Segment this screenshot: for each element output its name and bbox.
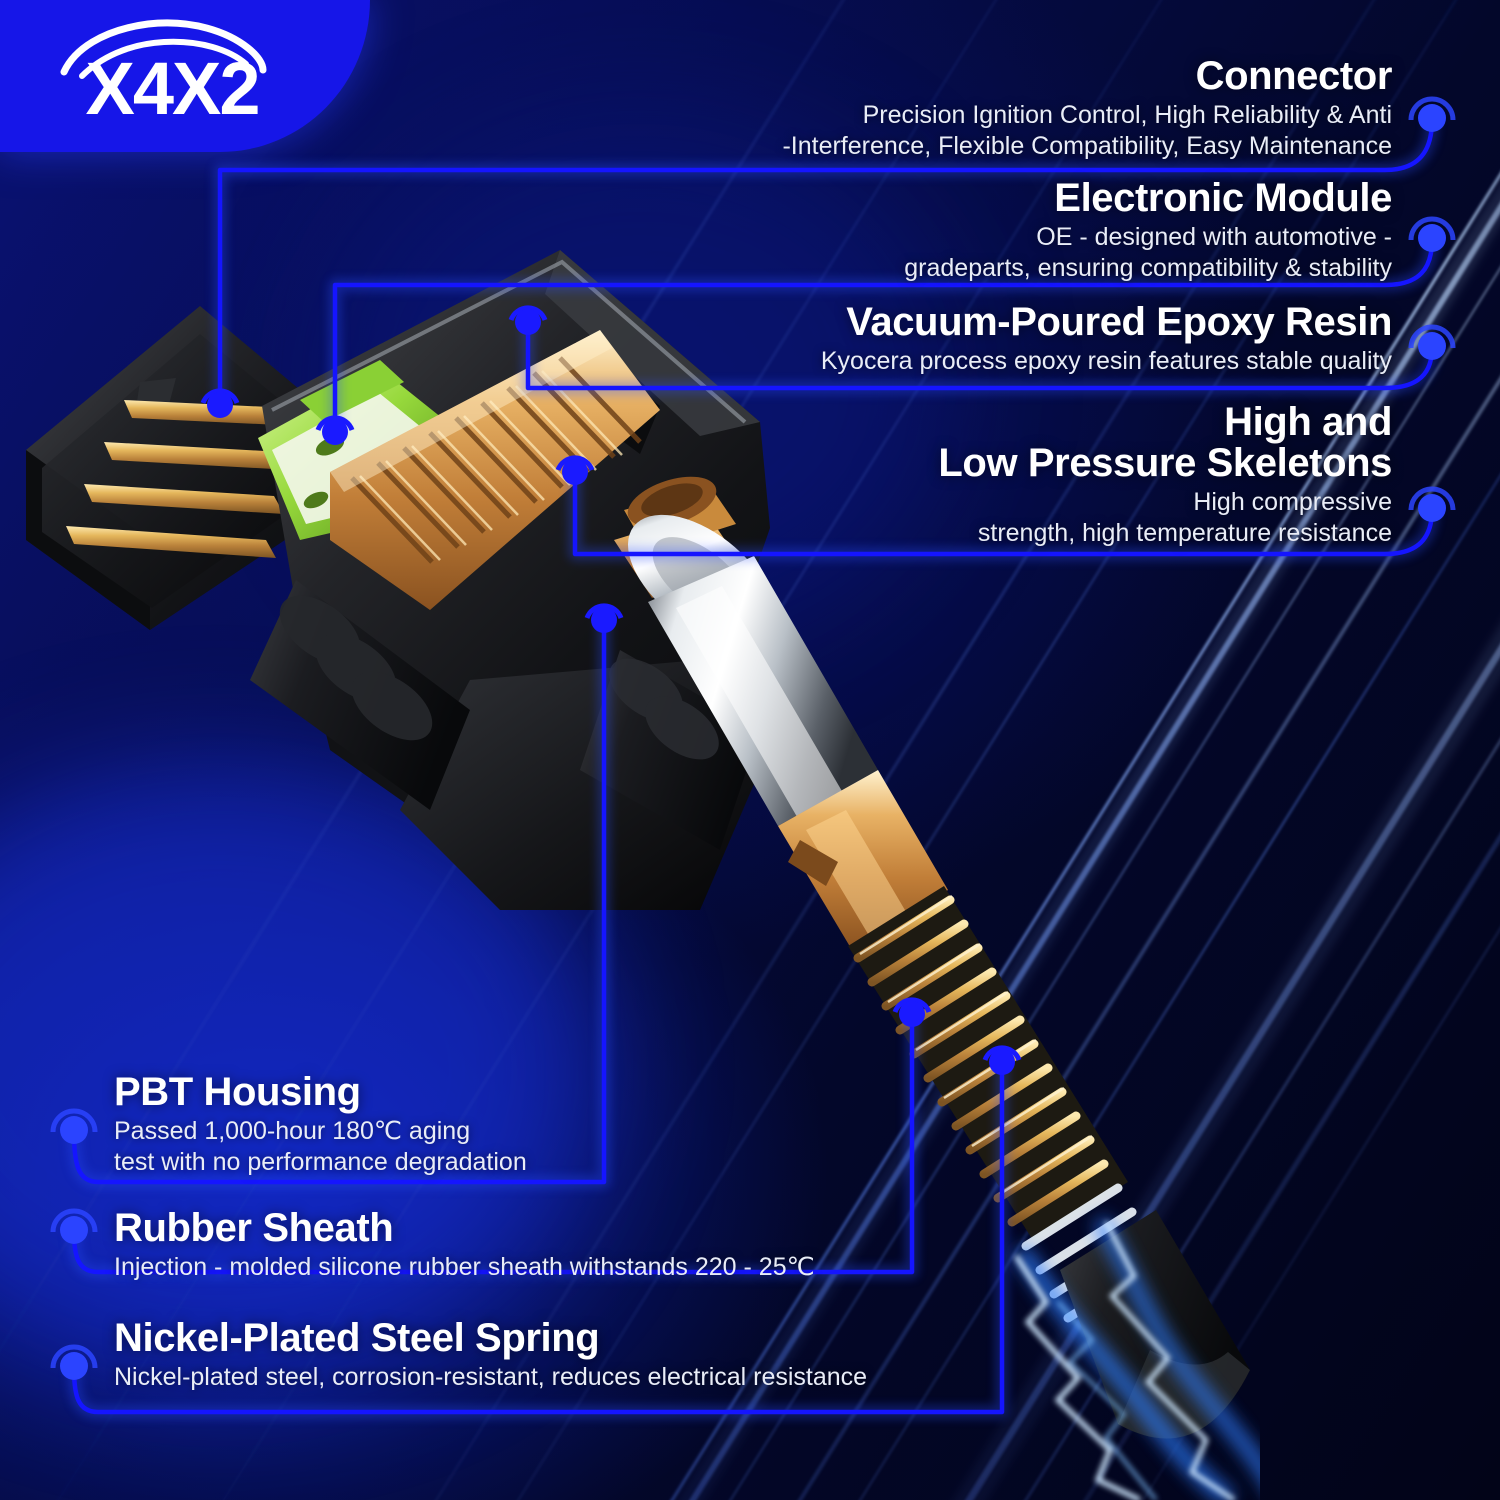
marker-rubber-sheath[interactable] — [895, 1000, 929, 1027]
callout-connector: Connector Precision Ignition Control, Hi… — [692, 56, 1392, 161]
callout-rubber-sheath: Rubber Sheath Injection - molded silicon… — [114, 1208, 994, 1283]
callout-pbt-housing: PBT Housing Passed 1,000-hour 180℃ aging… — [114, 1072, 814, 1177]
callout-pbt-housing-desc-1: Passed 1,000-hour 180℃ aging — [114, 1116, 814, 1147]
callout-pressure-skeletons: High and Low Pressure Skeletons High com… — [652, 402, 1392, 548]
connector-housing — [26, 306, 330, 630]
leader-rubber-sheath — [74, 1014, 912, 1272]
callout-pressure-skeletons-title-1: High and — [652, 402, 1392, 443]
car-silhouette-icon: X4X2 — [52, 14, 292, 134]
callout-pressure-skeletons-desc-1: High compressive — [652, 487, 1392, 518]
callout-electronic-module-desc-1: OE - designed with automotive - — [692, 222, 1392, 253]
product-illustration — [0, 210, 1260, 1500]
endmarker-electronic-module[interactable] — [1411, 219, 1453, 252]
callout-epoxy-resin-desc-1: Kyocera process epoxy resin features sta… — [632, 346, 1392, 377]
leader-electronic-module — [335, 240, 1432, 432]
marker-epoxy-resin[interactable] — [511, 308, 545, 335]
boot-tip — [1060, 1210, 1250, 1438]
background-glow-left — [0, 760, 600, 1380]
leader-pressure-skeletons — [575, 472, 1432, 554]
endmarker-epoxy-resin[interactable] — [1411, 327, 1453, 360]
background-light-streaks — [0, 0, 1500, 1500]
callout-rubber-sheath-desc-1: Injection - molded silicone rubber sheat… — [114, 1252, 994, 1283]
callout-connector-desc-1: Precision Ignition Control, High Reliabi… — [692, 100, 1392, 131]
callout-connector-title: Connector — [692, 56, 1392, 97]
copper-sleeve — [778, 770, 948, 950]
leader-pbt-housing — [74, 620, 604, 1182]
leader-nickel-spring — [74, 1062, 1002, 1412]
infographic-canvas: X4X2 — [0, 0, 1500, 1500]
callout-epoxy-resin: Vacuum-Poured Epoxy Resin Kyocera proces… — [632, 302, 1392, 377]
callout-electronic-module-desc-2: gradeparts, ensuring compatibility & sta… — [692, 253, 1392, 284]
marker-pressure-skeletons[interactable] — [558, 458, 592, 485]
endmarker-rubber-sheath[interactable] — [53, 1211, 95, 1244]
leader-connector — [220, 120, 1432, 405]
callout-pressure-skeletons-desc-2: strength, high temperature resistance — [652, 518, 1392, 549]
terminal-nut — [614, 467, 740, 598]
chrome-barrel — [648, 556, 878, 826]
marker-nickel-spring[interactable] — [985, 1048, 1019, 1075]
chrome-flange — [605, 490, 794, 666]
callout-nickel-spring-desc-1: Nickel-plated steel, corrosion-resistant… — [114, 1362, 1034, 1393]
endmarker-pbt-housing[interactable] — [53, 1111, 95, 1144]
marker-pbt-housing[interactable] — [587, 606, 621, 633]
marker-connector-pin[interactable] — [203, 391, 237, 418]
brand-name-text: X4X2 — [85, 47, 258, 130]
callout-pressure-skeletons-title-2: Low Pressure Skeletons — [652, 443, 1392, 484]
callout-electronic-module-title: Electronic Module — [692, 178, 1392, 219]
connector-pins — [66, 400, 300, 558]
callout-nickel-spring: Nickel-Plated Steel Spring Nickel-plated… — [114, 1318, 1034, 1393]
callout-rubber-sheath-title: Rubber Sheath — [114, 1208, 994, 1249]
callout-nickel-spring-title: Nickel-Plated Steel Spring — [114, 1318, 1034, 1359]
endmarker-nickel-spring[interactable] — [53, 1347, 95, 1380]
copper-windings — [330, 330, 660, 610]
leader-epoxy-resin — [528, 322, 1432, 388]
callout-pbt-housing-desc-2: test with no performance degradation — [114, 1147, 814, 1178]
background-glow-center — [330, 120, 950, 640]
callout-leader-lines — [0, 0, 1500, 1500]
callout-connector-desc-2: -Interference, Flexible Compatibility, E… — [692, 131, 1392, 162]
callout-epoxy-resin-title: Vacuum-Poured Epoxy Resin — [632, 302, 1392, 343]
coil-core-body — [262, 250, 770, 910]
endmarker-pressure-skeletons[interactable] — [1411, 489, 1453, 522]
electronic-module-pcb — [258, 360, 452, 540]
brand-logo-badge[interactable]: X4X2 — [0, 0, 370, 152]
marker-electronic-module[interactable] — [318, 418, 352, 445]
callout-electronic-module: Electronic Module OE - designed with aut… — [692, 178, 1392, 283]
rubber-boot — [250, 580, 760, 850]
endmarker-connector[interactable] — [1411, 99, 1453, 132]
callout-pbt-housing-title: PBT Housing — [114, 1072, 814, 1113]
nickel-plated-spring — [848, 886, 1160, 1318]
electric-arc — [1016, 1220, 1260, 1500]
